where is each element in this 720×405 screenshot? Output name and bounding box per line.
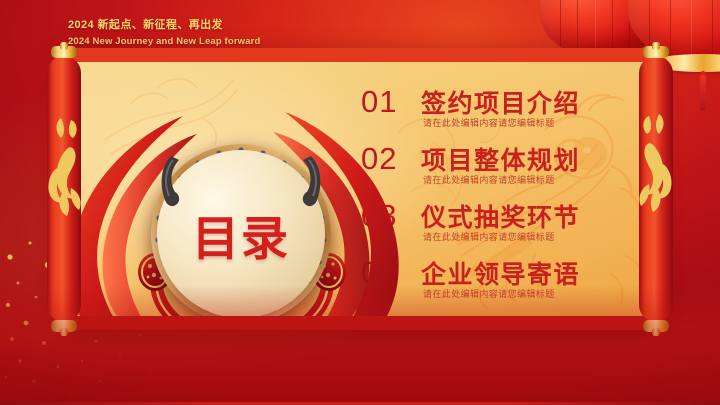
background-vignette [0, 0, 720, 405]
slide-canvas: 2024 新起点、新征程、再出发 2024 New Journey and Ne… [0, 0, 720, 405]
